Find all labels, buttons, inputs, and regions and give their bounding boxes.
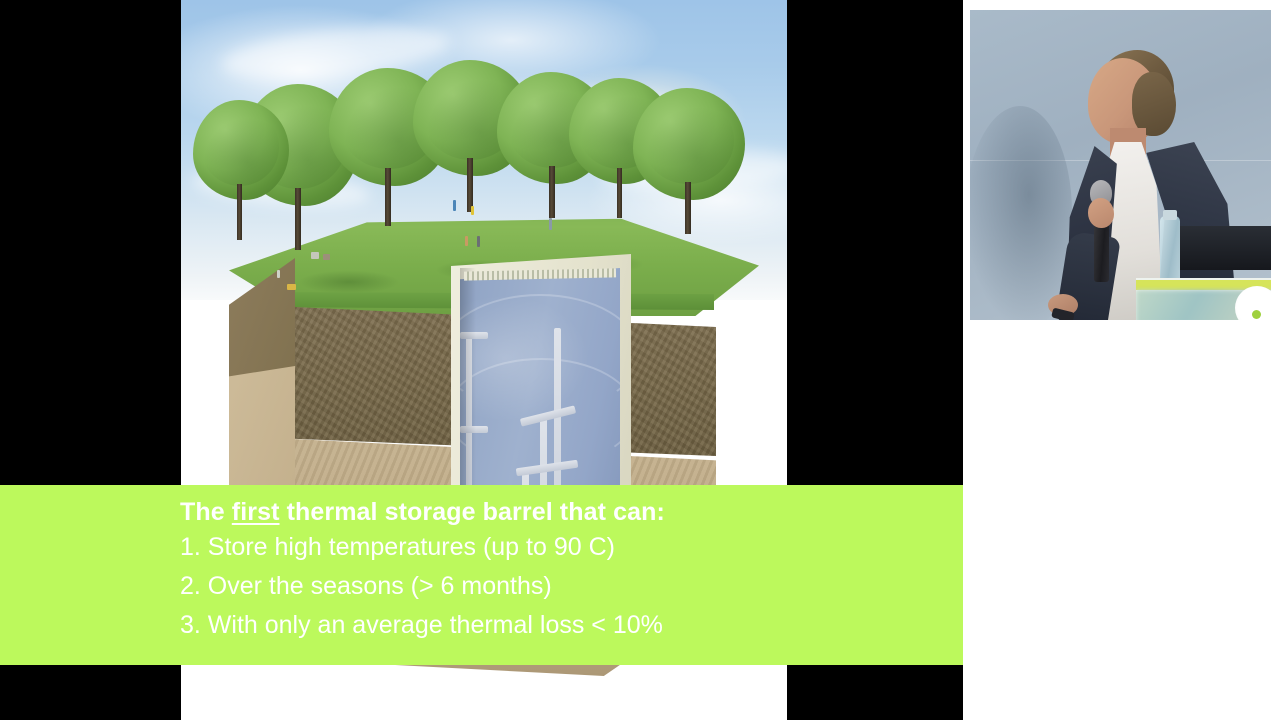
caption-title-emphasis: first xyxy=(232,498,280,526)
caption-bullet-2: 2. Over the seasons (> 6 months) xyxy=(180,567,963,606)
person-figure xyxy=(477,236,480,247)
person-figure xyxy=(311,252,319,259)
speaker-hand-holding-mic xyxy=(1088,198,1114,228)
caption-bullet-1: 1. Store high temperatures (up to 90 C) xyxy=(180,528,963,567)
person-figure xyxy=(549,218,552,230)
speaker-video-pane: it xyxy=(963,0,1280,720)
laptop-icon xyxy=(1178,226,1271,270)
person-figure xyxy=(471,206,474,215)
caption-title-suffix: thermal storage barrel that can: xyxy=(280,498,665,526)
podium-logo-dot xyxy=(1252,310,1261,319)
presentation-viewer: The first thermal storage barrel that ca… xyxy=(0,0,1280,720)
wall-shadow xyxy=(970,106,1072,320)
person-figure xyxy=(323,254,330,260)
slide-pane[interactable]: The first thermal storage barrel that ca… xyxy=(0,0,963,720)
speaker-hair-back xyxy=(1132,72,1176,136)
podium-banner: it xyxy=(1136,278,1271,320)
person-figure xyxy=(465,236,468,246)
person-figure xyxy=(287,284,296,290)
caption-title: The first thermal storage barrel that ca… xyxy=(180,497,963,528)
caption-bullet-3: 3. With only an average thermal loss < 1… xyxy=(180,606,963,645)
tree-icon xyxy=(633,88,745,234)
speaker-video-image: it xyxy=(970,10,1271,320)
person-figure xyxy=(453,200,456,211)
person-figure xyxy=(277,270,280,278)
bottle-cap xyxy=(1163,210,1177,220)
tree-icon xyxy=(193,100,289,240)
caption-title-prefix: The xyxy=(180,498,232,526)
slide-caption-band: The first thermal storage barrel that ca… xyxy=(0,485,963,665)
speaker-video-frame[interactable]: it xyxy=(968,8,1273,322)
